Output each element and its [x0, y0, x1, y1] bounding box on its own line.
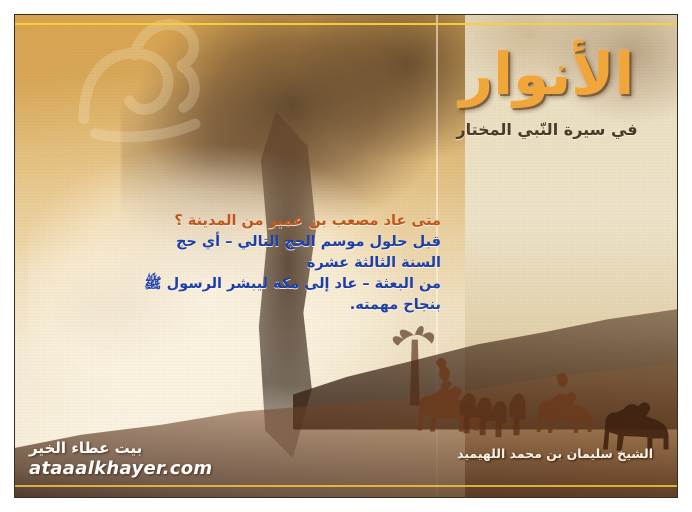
page-title: الأنوار [441, 41, 653, 108]
slide-frame: الأنوار في سيرة النّبي المختار متى عاد م… [14, 14, 678, 498]
author-name: الشيخ سليمان بن محمد اللهيميد [457, 446, 653, 461]
site-watermark: بيت عطاء الخير ataaalkhayer.com [29, 439, 212, 479]
site-arabic-name: بيت عطاء الخير [29, 439, 212, 457]
gold-hairline-bottom [15, 485, 677, 487]
slide-page: الأنوار في سيرة النّبي المختار متى عاد م… [0, 0, 692, 512]
answer-line-1: قبل حلول موسم الحج التالي – أي حج السنة … [141, 232, 441, 274]
title-block: الأنوار في سيرة النّبي المختار [441, 41, 653, 139]
page-subtitle: في سيرة النّبي المختار [441, 120, 653, 139]
answer-line-2: من البعثة – عاد إلى مكة ليبشر الرسول ﷺ ب… [141, 274, 441, 316]
site-url[interactable]: ataaalkhayer.com [29, 458, 212, 479]
gold-hairline-top [15, 23, 677, 25]
question-line: متى عاد مصعب بن عمير من المدينة ؟ [141, 211, 441, 232]
body-text: متى عاد مصعب بن عمير من المدينة ؟ قبل حل… [141, 211, 441, 316]
